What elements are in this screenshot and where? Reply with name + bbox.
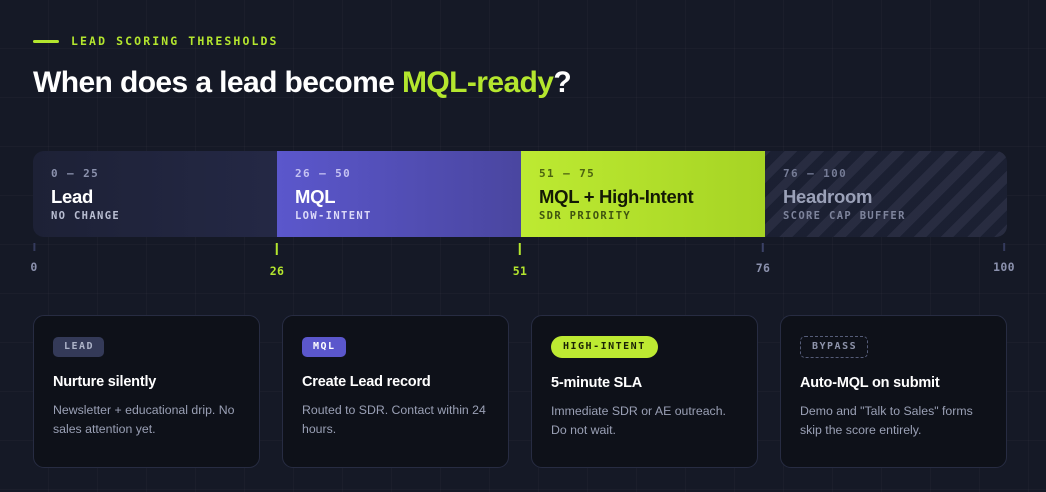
status-badge: MQL xyxy=(302,337,346,357)
page-title-prefix: When does a lead become xyxy=(33,66,402,99)
eyebrow-dash-icon xyxy=(33,40,59,43)
segment-range: 0 – 25 xyxy=(51,167,259,180)
segment-name: MQL xyxy=(295,186,503,208)
card-lead[interactable]: LEAD Nurture silently Newsletter + educa… xyxy=(33,315,260,468)
page-title: When does a lead become MQL-ready? xyxy=(33,66,571,100)
segment-name: MQL + High-Intent xyxy=(539,186,747,208)
axis-tick-mark xyxy=(276,243,279,255)
eyebrow: LEAD SCORING THRESHOLDS xyxy=(33,30,571,52)
axis-tick-label: 76 xyxy=(756,261,770,275)
card-mql[interactable]: MQL Create Lead record Routed to SDR. Co… xyxy=(282,315,509,468)
segment-lead[interactable]: 0 – 25 Lead NO CHANGE xyxy=(33,151,277,237)
score-axis: 0 26 51 76 100 xyxy=(33,243,1007,281)
axis-tick-mark xyxy=(1003,243,1005,251)
card-title: Nurture silently xyxy=(53,374,240,390)
segment-note: NO CHANGE xyxy=(51,210,120,222)
axis-tick-51: 51 xyxy=(513,243,527,278)
segment-note: SCORE CAP BUFFER xyxy=(783,210,906,222)
card-body: Demo and "Talk to Sales" forms skip the … xyxy=(800,402,987,439)
eyebrow-label: LEAD SCORING THRESHOLDS xyxy=(71,34,279,48)
segment-note: SDR PRIORITY xyxy=(539,210,631,222)
segment-name: Headroom xyxy=(783,186,989,208)
card-title: 5-minute SLA xyxy=(551,375,738,391)
axis-tick-100: 100 xyxy=(993,243,1015,274)
card-body: Immediate SDR or AE outreach. Do not wai… xyxy=(551,402,738,439)
axis-tick-76: 76 xyxy=(756,243,770,275)
card-bypass[interactable]: BYPASS Auto-MQL on submit Demo and "Talk… xyxy=(780,315,1007,468)
axis-tick-mark xyxy=(762,243,764,252)
card-body: Newsletter + educational drip. No sales … xyxy=(53,401,240,438)
page-title-accent: MQL-ready xyxy=(402,66,553,99)
segment-range: 51 – 75 xyxy=(539,167,747,180)
page-title-suffix: ? xyxy=(553,66,571,99)
segment-range: 26 – 50 xyxy=(295,167,503,180)
status-badge: BYPASS xyxy=(800,336,868,358)
axis-tick-0: 0 xyxy=(30,243,37,274)
axis-tick-label: 0 xyxy=(30,260,37,274)
axis-tick-26: 26 xyxy=(270,243,284,278)
card-title: Create Lead record xyxy=(302,374,489,390)
segment-mql[interactable]: 26 – 50 MQL LOW-INTENT xyxy=(277,151,521,237)
axis-tick-label: 26 xyxy=(270,264,284,278)
segment-note: LOW-INTENT xyxy=(295,210,372,222)
threshold-band: 0 – 25 Lead NO CHANGE 26 – 50 MQL LOW-IN… xyxy=(33,151,1007,237)
card-body: Routed to SDR. Contact within 24 hours. xyxy=(302,401,489,438)
status-badge: LEAD xyxy=(53,337,104,357)
page-root: LEAD SCORING THRESHOLDS When does a lead… xyxy=(0,0,1046,492)
axis-tick-mark xyxy=(33,243,35,251)
action-cards: LEAD Nurture silently Newsletter + educa… xyxy=(33,315,1007,468)
card-title: Auto-MQL on submit xyxy=(800,375,987,391)
segment-mql-high-intent[interactable]: 51 – 75 MQL + High-Intent SDR PRIORITY xyxy=(521,151,765,237)
segment-name: Lead xyxy=(51,186,259,208)
axis-tick-mark xyxy=(519,243,522,255)
status-badge: HIGH-INTENT xyxy=(551,336,658,358)
page-header: LEAD SCORING THRESHOLDS When does a lead… xyxy=(33,30,571,100)
segment-headroom[interactable]: 76 – 100 Headroom SCORE CAP BUFFER xyxy=(765,151,1007,237)
card-high-intent[interactable]: HIGH-INTENT 5-minute SLA Immediate SDR o… xyxy=(531,315,758,468)
segment-range: 76 – 100 xyxy=(783,167,989,180)
axis-tick-label: 100 xyxy=(993,260,1015,274)
axis-tick-label: 51 xyxy=(513,264,527,278)
